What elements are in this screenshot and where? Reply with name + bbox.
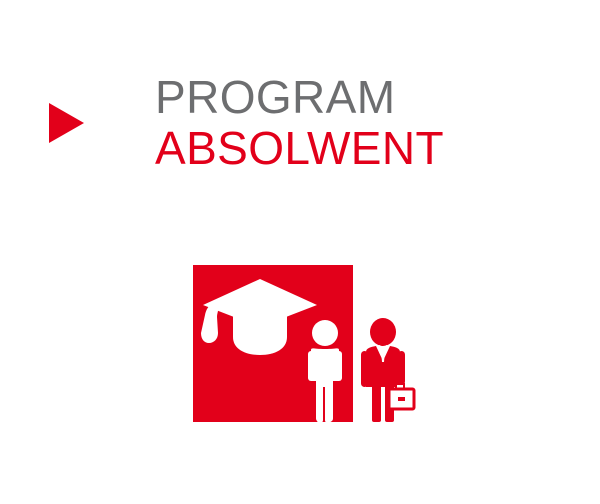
professional-head [370,318,396,346]
briefcase-icon [389,384,414,409]
graduate-and-professional-icon [193,265,423,425]
page-title: PROGRAM ABSOLWENT [155,72,575,174]
student-leg-right [326,377,333,422]
briefcase-latch [398,397,405,401]
professional-arm-left [361,351,368,387]
student-arm-left [308,351,314,381]
businessman-figure-icon [361,318,414,422]
header: PROGRAM ABSOLWENT [0,0,600,200]
professional-leg-left [372,383,381,422]
student-head [312,320,338,346]
student-leg-left [316,377,323,422]
icon-artwork [193,265,423,425]
student-arm-right [336,351,342,381]
student-torso [311,351,339,381]
poster-canvas: PROGRAM ABSOLWENT [0,0,600,504]
title-line-absolwent: ABSOLWENT [155,123,575,174]
play-triangle-icon [49,103,84,143]
professional-arm-right [398,351,405,385]
title-line-program: PROGRAM [155,72,575,123]
